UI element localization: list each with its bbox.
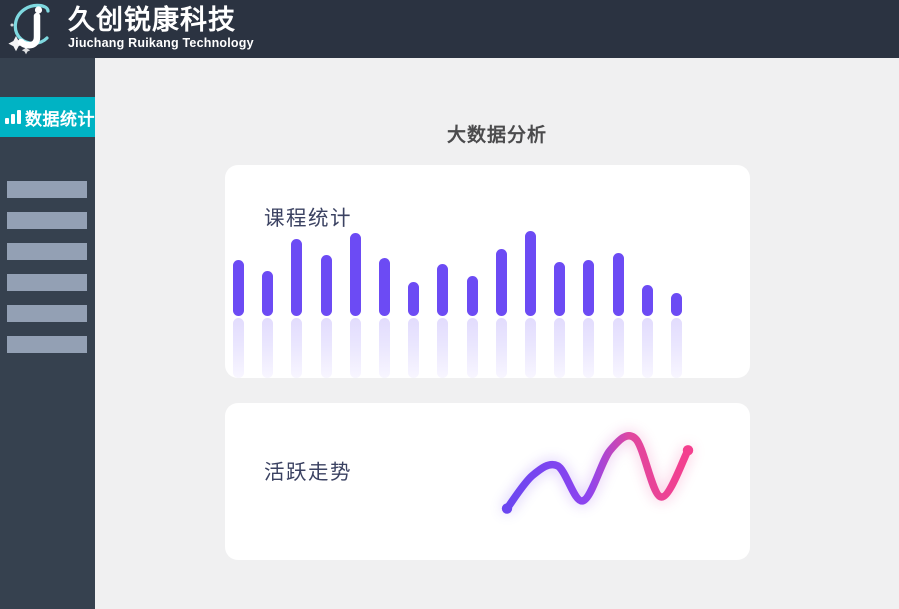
bar-reflection (262, 318, 273, 378)
card-course-statistics: 课程统计 (225, 165, 750, 378)
bar-reflection (525, 318, 536, 378)
bar (233, 260, 244, 316)
bar (613, 253, 624, 316)
bar-reflection (291, 318, 302, 378)
sidebar-placeholder-item[interactable] (7, 243, 87, 260)
bar-reflection (554, 318, 565, 378)
bar-reflection (583, 318, 594, 378)
bar (554, 262, 565, 316)
ji-orbit-logo-icon (4, 3, 66, 55)
bar-reflection (233, 318, 244, 378)
sidebar-item-label: 数据统计 (25, 105, 95, 130)
bar-reflection (379, 318, 390, 378)
bar (350, 233, 361, 316)
sidebar-placeholder-item[interactable] (7, 305, 87, 322)
bar-chart-icon (5, 110, 21, 124)
bar (642, 285, 653, 316)
bar (379, 258, 390, 316)
bar-reflection (671, 318, 682, 378)
sidebar-placeholder-item[interactable] (7, 212, 87, 229)
line-endpoint-start[interactable] (502, 503, 512, 513)
bar-reflection (321, 318, 332, 378)
sidebar-item-data-statistics[interactable]: 数据统计 (0, 97, 95, 137)
bar (291, 239, 302, 316)
bar-reflection (437, 318, 448, 378)
bar-reflection (642, 318, 653, 378)
bar-chart (225, 165, 750, 378)
sidebar-placeholder-item[interactable] (7, 181, 87, 198)
bar (262, 271, 273, 316)
brand-name-cn: 久创锐康科技 (68, 7, 254, 35)
line-endpoint-end[interactable] (683, 445, 693, 455)
bar (583, 260, 594, 316)
bar-reflection (613, 318, 624, 378)
sidebar-placeholder-list (7, 181, 87, 367)
bar (525, 231, 536, 316)
app-root: 久创锐康科技 Jiuchang Ruikang Technology 数据统计 … (0, 0, 899, 609)
brand-name-en: Jiuchang Ruikang Technology (68, 36, 254, 51)
bar (437, 264, 448, 316)
bar (467, 276, 478, 316)
sidebar: 数据统计 (0, 58, 95, 609)
bar-reflection (408, 318, 419, 378)
sidebar-placeholder-item[interactable] (7, 336, 87, 353)
brand-text: 久创锐康科技 Jiuchang Ruikang Technology (68, 7, 254, 51)
bar (671, 293, 682, 316)
bar (321, 255, 332, 316)
main-content: 大数据分析 课程统计 活跃走势 (95, 58, 899, 609)
sidebar-placeholder-item[interactable] (7, 274, 87, 291)
page-title: 大数据分析 (95, 120, 899, 147)
trend-line[interactable] (507, 436, 688, 509)
bar (496, 249, 507, 316)
line-chart (225, 403, 750, 560)
bar (408, 282, 419, 316)
bar-reflection (350, 318, 361, 378)
bar-reflection (496, 318, 507, 378)
bar-reflection (467, 318, 478, 378)
card-activity-trend: 活跃走势 (225, 403, 750, 560)
app-header: 久创锐康科技 Jiuchang Ruikang Technology (0, 0, 899, 58)
